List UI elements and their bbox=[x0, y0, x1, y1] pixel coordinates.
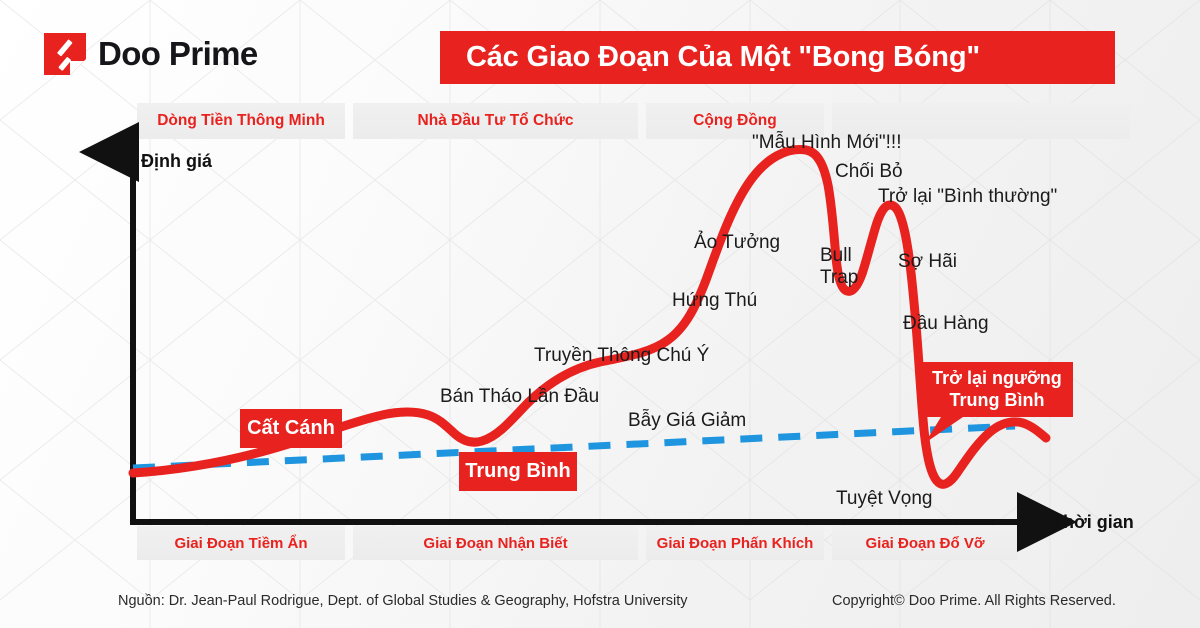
curve-label-ao-tuong: Ảo Tưởng bbox=[694, 232, 780, 254]
curve-label-hung-thu: Hứng Thú bbox=[672, 290, 757, 312]
callout-trung-binh: Trung Bình bbox=[459, 452, 577, 491]
bottom-band-label: Giai Đoạn Phấn Khích bbox=[657, 535, 814, 552]
bottom-band-label: Giai Đoạn Nhận Biết bbox=[423, 535, 567, 552]
curve-label-choi-bo: Chối Bỏ bbox=[835, 161, 903, 183]
source-credit: Nguồn: Dr. Jean-Paul Rodrigue, Dept. of … bbox=[118, 593, 688, 609]
doo-prime-logo-icon bbox=[44, 33, 86, 75]
top-band-label: Dòng Tiền Thông Minh bbox=[157, 112, 325, 130]
curve-label-so-hai: Sợ Hãi bbox=[898, 251, 957, 273]
y-axis-title: Định giá bbox=[141, 151, 212, 172]
top-band-label: Nhà Đầu Tư Tổ Chức bbox=[418, 112, 574, 130]
curve-label-mau-hinh-moi: "Mẫu Hình Mới"!!! bbox=[752, 132, 902, 154]
curve-label-dau-hang: Đầu Hàng bbox=[903, 313, 989, 335]
curve-label-ban-thao-lan-dau: Bán Tháo Lần Đầu bbox=[440, 386, 599, 408]
brand-logo[interactable]: Doo Prime bbox=[44, 33, 258, 75]
bottom-band-0: Giai Đoạn Tiềm Ẩn bbox=[137, 526, 345, 560]
title-banner: Các Giao Đoạn Của Một "Bong Bóng" bbox=[440, 31, 1115, 84]
top-band-0: Dòng Tiền Thông Minh bbox=[137, 103, 345, 139]
infographic-page: Doo Prime Các Giao Đoạn Của Một "Bong Bó… bbox=[0, 0, 1200, 628]
copyright-notice: Copyright© Doo Prime. All Rights Reserve… bbox=[832, 593, 1116, 609]
callout-cat-canh: Cất Cánh bbox=[240, 409, 342, 448]
bottom-band-1: Giai Đoạn Nhận Biết bbox=[353, 526, 638, 560]
top-band-label: Cộng Đồng bbox=[693, 112, 777, 130]
curve-label-tuyet-vong: Tuyệt Vọng bbox=[836, 488, 932, 510]
bottom-band-3: Giai Đoạn Đổ Vỡ bbox=[832, 526, 1018, 560]
bottom-band-label: Giai Đoạn Đổ Vỡ bbox=[865, 535, 984, 552]
curve-label-bay-gia-giam: Bẫy Giá Giảm bbox=[628, 410, 746, 432]
page-title: Các Giao Đoạn Của Một "Bong Bóng" bbox=[466, 41, 980, 74]
curve-label-truyen-thong-chu-y: Truyền Thông Chú Ý bbox=[534, 345, 709, 367]
callout-pointer-icon bbox=[925, 417, 963, 443]
bottom-band-label: Giai Đoạn Tiềm Ẩn bbox=[174, 535, 307, 552]
bottom-band-2: Giai Đoạn Phấn Khích bbox=[646, 526, 824, 560]
curve-label-tro-lai-binh-thuong: Trở lại "Bình thường" bbox=[878, 186, 1057, 208]
brand-name: Doo Prime bbox=[98, 35, 258, 73]
curve-label-bull-trap: Bull Trap bbox=[820, 245, 858, 290]
callout-tro-lai-nguong-trung-binh: Trở lại ngưỡng Trung Bình bbox=[921, 362, 1073, 417]
top-band-1: Nhà Đầu Tư Tổ Chức bbox=[353, 103, 638, 139]
x-axis-title: Thời gian bbox=[1052, 512, 1134, 533]
